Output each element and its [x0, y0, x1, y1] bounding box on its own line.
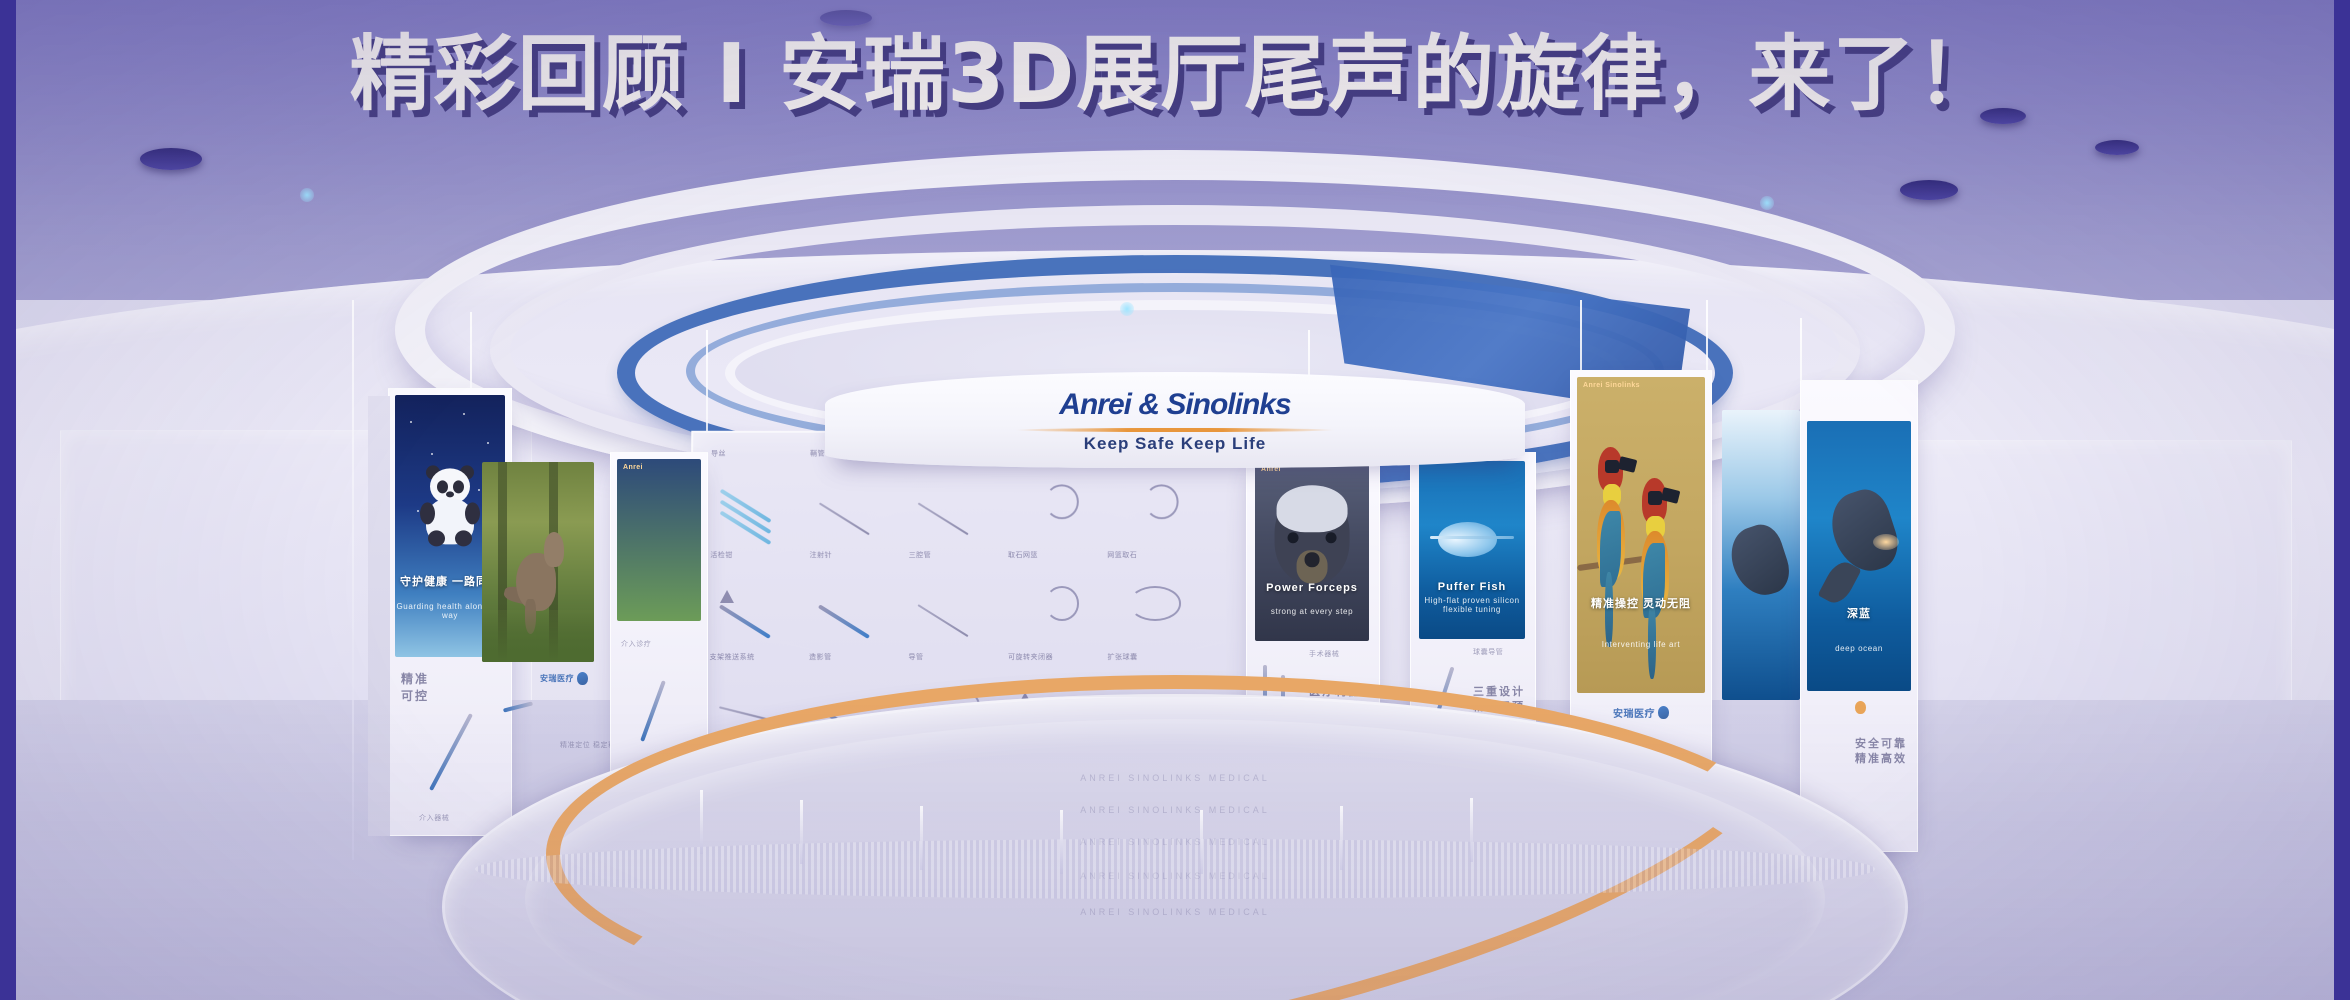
- rail-post: [1200, 810, 1203, 874]
- poster-subtitle: deep ocean: [1807, 644, 1911, 653]
- poster-title: 精准操控 灵动无阻: [1577, 595, 1705, 611]
- poster-wave[interactable]: [1722, 410, 1800, 700]
- product-label: 支架推送系统: [710, 652, 755, 662]
- product-label: 造影管: [809, 652, 832, 662]
- platform-edge-texture: [475, 839, 1875, 899]
- product-cell: 导丝: [706, 447, 802, 544]
- balloon-catheter-graphic: [1438, 522, 1497, 558]
- sun-glow: [1873, 534, 1899, 550]
- product-label: 取石网篮: [1008, 550, 1038, 560]
- poster-whale: 深蓝 deep ocean: [1807, 421, 1911, 691]
- poster-subtitle: strong at every step: [1255, 607, 1369, 616]
- ceiling-spotlight: [2095, 140, 2139, 155]
- device-guidewire-icon: [716, 478, 785, 529]
- rail-post: [1470, 798, 1473, 862]
- ring-glow-light: [1760, 196, 1774, 210]
- border-right: [2334, 0, 2350, 1000]
- rail-post: [800, 800, 803, 864]
- product-label: 可旋转夹闭器: [1008, 652, 1053, 662]
- panel-caption-whale: 安全可靠 精准高效: [1855, 737, 1907, 768]
- product-photo-device: [429, 713, 473, 791]
- product-label: 导管: [909, 652, 924, 662]
- poster-badger: Anrei Power Forceps strong at every step: [1255, 461, 1369, 641]
- poster-badge: Anrei Sinolinks: [1583, 382, 1640, 389]
- brand-tagline: Keep Safe Keep Life: [825, 434, 1525, 454]
- exhibition-hall-banner: Anrei & Sinolinks Keep Safe Keep Life 导丝…: [0, 0, 2350, 1000]
- ring-glow-light: [1120, 302, 1134, 316]
- panel-caption-small: 介入诊疗: [621, 639, 651, 649]
- product-cell: 注射针: [805, 548, 901, 646]
- panel-caption-small: 介入器械: [419, 813, 449, 823]
- whale-graphic: [1723, 520, 1795, 603]
- rail-post: [1340, 806, 1343, 870]
- product-label: 网篮取石: [1107, 550, 1137, 560]
- poster-panel-small-left[interactable]: Anrei 介入诊疗: [610, 452, 708, 784]
- hanging-rod: [352, 300, 354, 860]
- panda-illustration: [418, 468, 482, 546]
- product-label: 鞘管: [810, 449, 825, 459]
- poster-small-left: Anrei: [617, 459, 701, 621]
- product-cell: 三腔管: [905, 548, 1000, 646]
- poster-title: Puffer Fish: [1419, 581, 1525, 593]
- ceiling-spotlight: [140, 148, 202, 170]
- product-cell: 网篮取石: [1103, 548, 1199, 646]
- brand-swoosh-accent: [1015, 428, 1335, 432]
- device-triple-lumen-icon: [914, 579, 983, 630]
- poster-title: Power Forceps: [1255, 582, 1369, 594]
- brand-mark-icon: [1855, 701, 1866, 714]
- poster-kangaroo[interactable]: [482, 462, 594, 662]
- ceiling-spotlight: [1900, 180, 1958, 200]
- device-balloon-icon: [1013, 478, 1082, 529]
- exhibition-room: Anrei & Sinolinks Keep Safe Keep Life 导丝…: [0, 0, 2350, 1000]
- product-label: 活检钳: [710, 550, 733, 560]
- poster-panel-panda-side: [368, 396, 390, 836]
- brand-logo-text: Anrei & Sinolinks: [825, 388, 1525, 422]
- rail-post: [700, 790, 703, 854]
- border-left: [0, 0, 16, 1000]
- product-label: 注射针: [810, 550, 833, 560]
- rail-post: [1060, 810, 1063, 874]
- brand-mark-icon: [577, 672, 588, 685]
- product-cell: 活检钳: [706, 548, 802, 646]
- product-label: 三腔管: [909, 550, 931, 560]
- ring-glow-light: [300, 188, 314, 202]
- brand-chip-label: 安瑞医疗: [540, 673, 574, 684]
- brand-chip: [1855, 701, 1866, 714]
- product-label: 导丝: [711, 449, 726, 459]
- device-snare-icon: [1113, 478, 1182, 529]
- poster-balloon: Puffer Fish High-flat proven silicon fle…: [1419, 461, 1525, 639]
- product-cell: 取石网篮: [1004, 548, 1099, 646]
- page-title: 精彩回顾 I 安瑞3D展厅尾声的旋律，来了！: [0, 34, 2350, 116]
- poster-subtitle: High-flat proven silicon flexible tuning: [1419, 596, 1525, 614]
- brand-chip: 安瑞医疗: [540, 672, 588, 685]
- product-photo-device: [640, 680, 666, 742]
- device-stone-basket-icon: [1014, 579, 1083, 630]
- rail-post: [920, 806, 923, 870]
- device-sheath-icon: [815, 478, 884, 529]
- poster-title: 深蓝: [1807, 605, 1911, 621]
- ceiling-spotlight: [820, 10, 872, 26]
- brand-logo-band: Anrei & Sinolinks Keep Safe Keep Life: [825, 372, 1525, 468]
- device-retrieval-basket-icon: [1113, 579, 1182, 630]
- device-injection-needle-icon: [815, 579, 884, 630]
- panel-caption-left: 精准 可控: [401, 671, 429, 705]
- device-dilator-icon: [914, 478, 983, 529]
- product-label: 扩张球囊: [1107, 652, 1137, 662]
- poster-badge: Anrei: [623, 464, 643, 471]
- device-biopsy-forceps-icon: [715, 579, 784, 630]
